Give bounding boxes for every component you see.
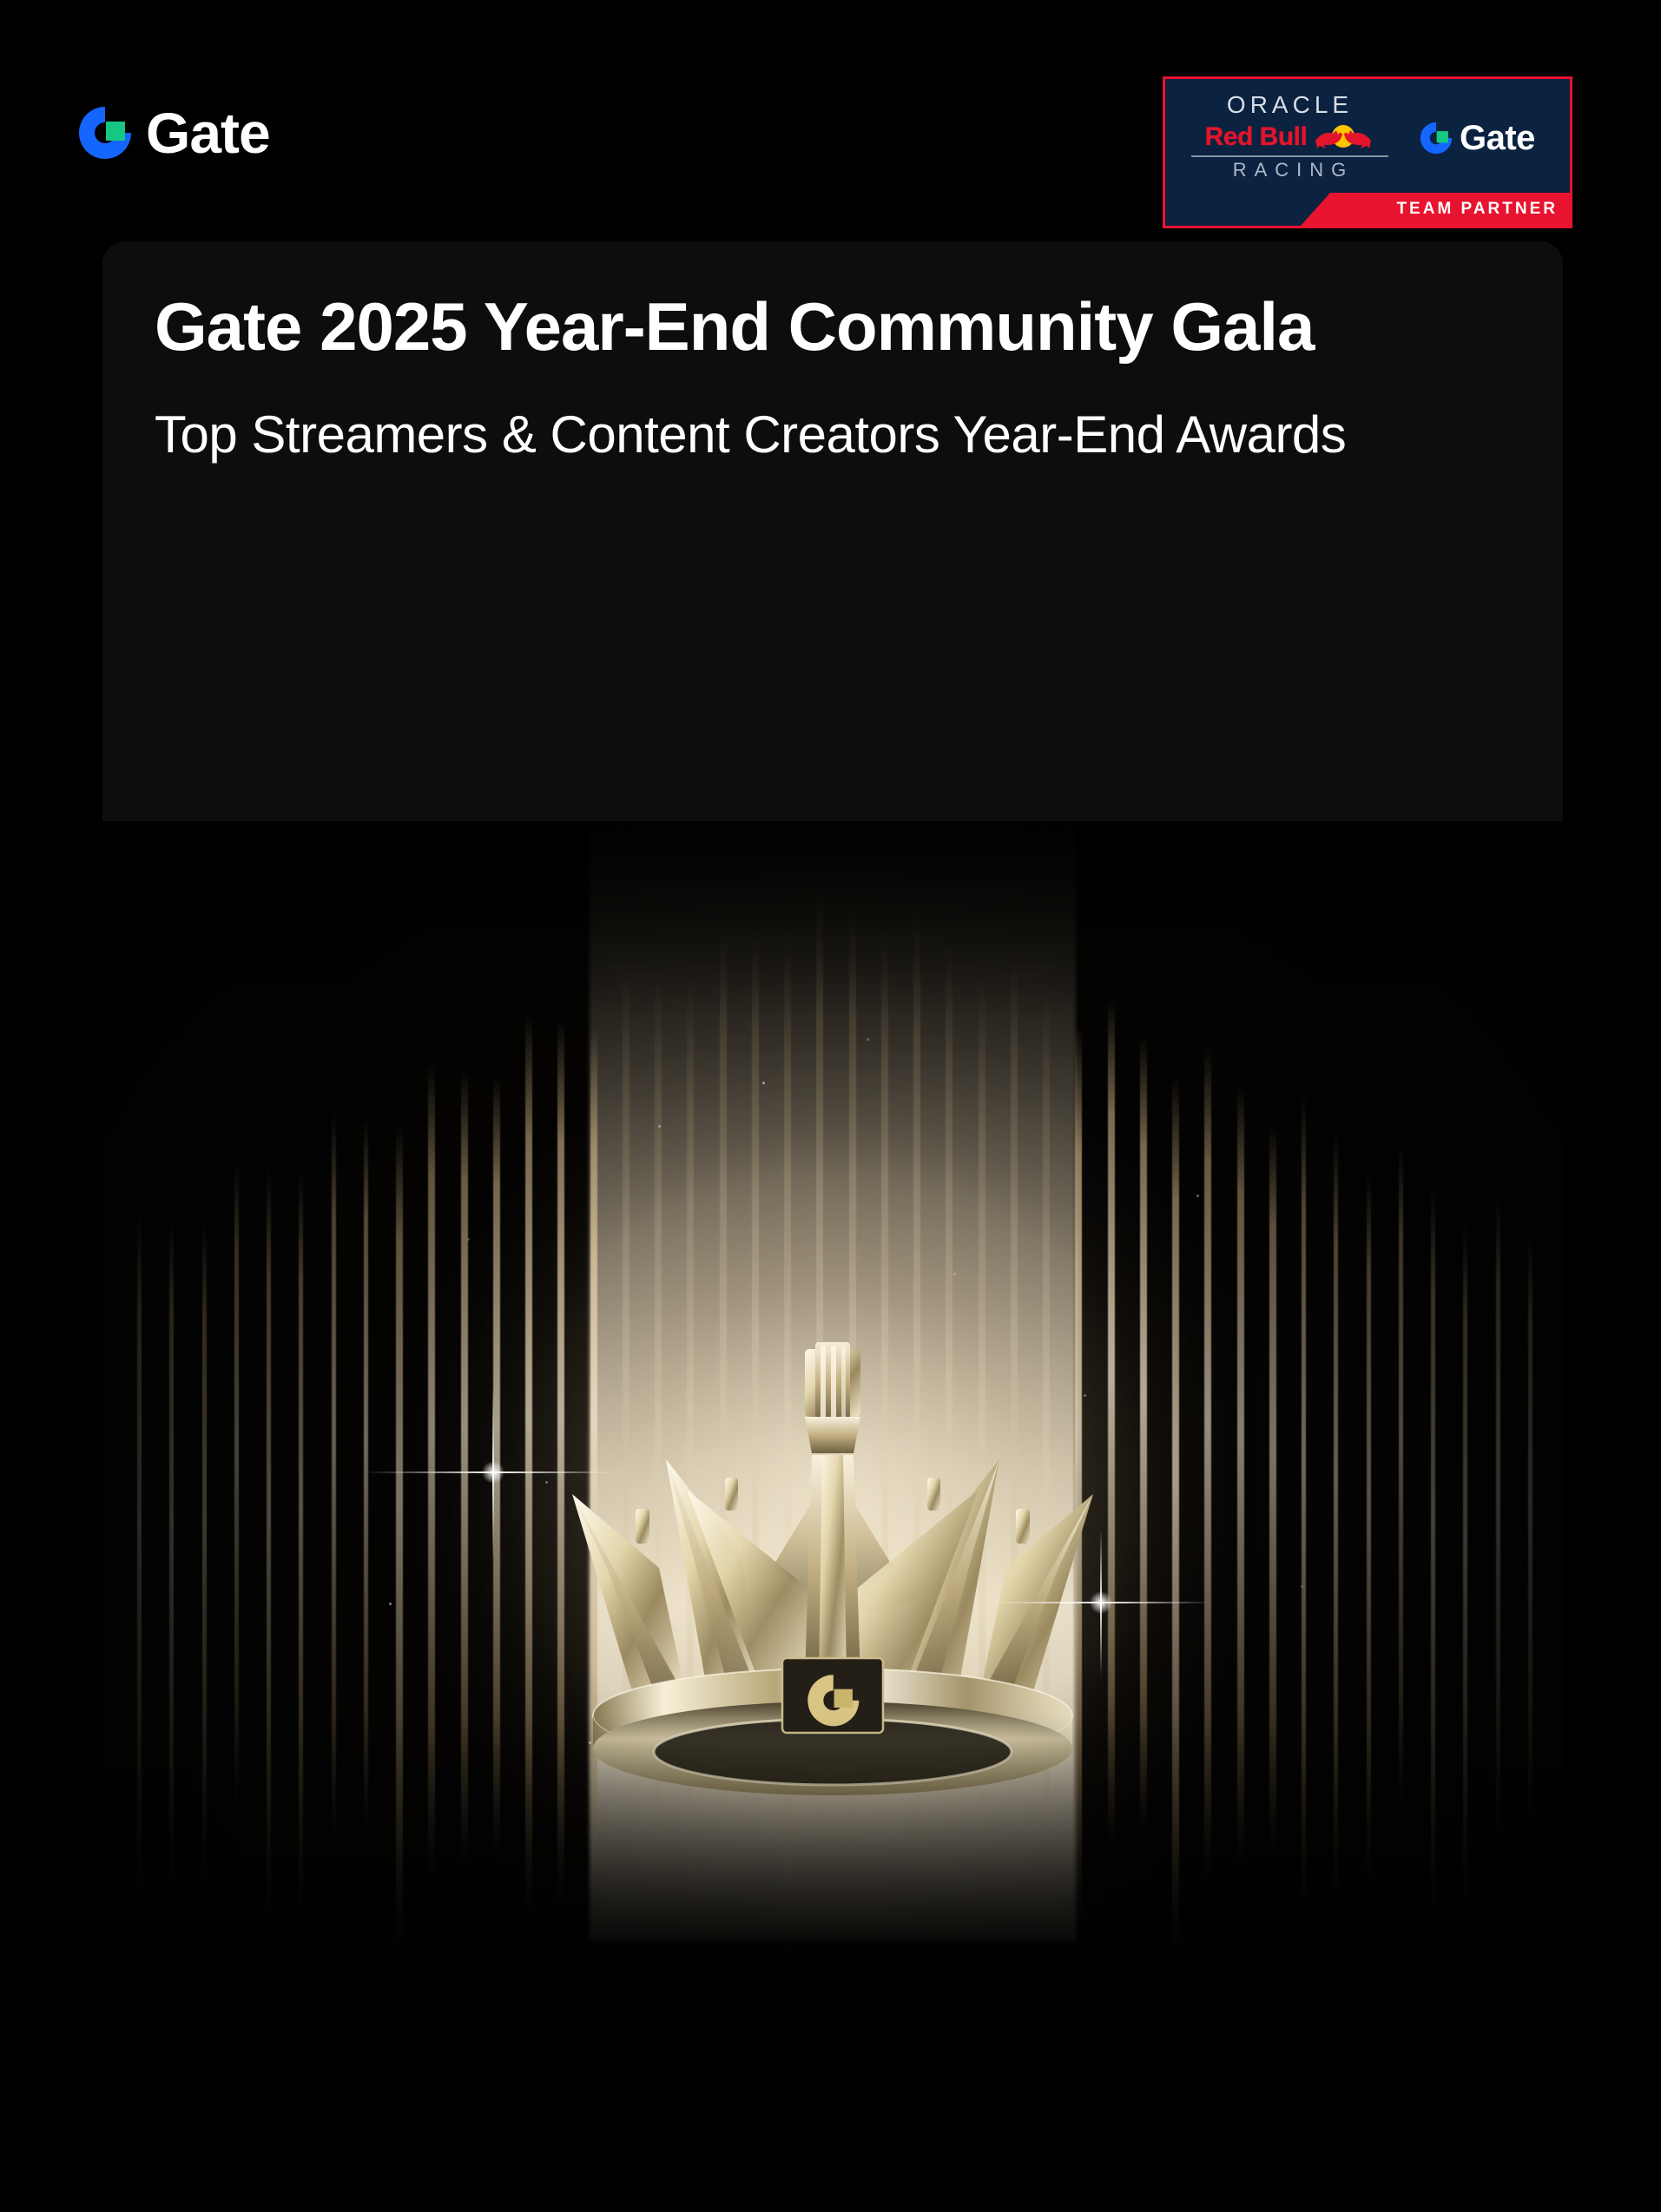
dust-mote [762, 1082, 765, 1084]
gate-brand-label: Gate [146, 104, 270, 161]
team-partner-label: TEAM PARTNER [1396, 200, 1558, 219]
dust-mote [545, 1481, 548, 1484]
red-bull-bull-icon [1312, 123, 1374, 151]
stage-light-bar [234, 1162, 239, 1811]
dust-mote [658, 1125, 661, 1128]
crown-trophy-artwork [102, 821, 1563, 2064]
hero-card: Gate 2025 Year-End Community Gala Top St… [102, 241, 1563, 2064]
stage-light-bar [461, 1069, 468, 1868]
hero-text-block: Gate 2025 Year-End Community Gala Top St… [102, 241, 1563, 466]
dust-mote [867, 1038, 869, 1041]
gate-logo-icon [1419, 121, 1453, 155]
stage-light-bar [1269, 1124, 1276, 1856]
stage-light-bar [1204, 1046, 1211, 1880]
stage-light-bar [1528, 1234, 1532, 1833]
badge-divider [1191, 155, 1388, 157]
gala-announcement-page: Gate ORACLE Red Bull [0, 0, 1661, 2212]
badge-gate-logo: Gate [1419, 121, 1535, 155]
stage-light-bar [493, 1075, 500, 1856]
dust-mote [1301, 1585, 1303, 1588]
stage-light-bar [1463, 1223, 1467, 1926]
team-partner-banner: TEAM PARTNER [1301, 193, 1570, 226]
stage-light-bar [1237, 1085, 1244, 1868]
stage-light-bar [137, 1212, 142, 1915]
golden-crown-trophy [555, 1307, 1111, 1846]
stage-light-bar [267, 1168, 271, 1938]
page-title: Gate 2025 Year-End Community Gala [155, 283, 1511, 371]
dust-mote [1196, 1195, 1199, 1197]
dust-mote [389, 1603, 392, 1605]
stage-light-bar [1431, 1184, 1435, 1938]
stage-light-bar [1302, 1096, 1306, 1915]
stage-light-bar [169, 1217, 174, 1903]
stage-light-bar [299, 1174, 303, 1926]
stage-light-bar [1367, 1174, 1371, 1891]
stage-light-bar [525, 1013, 532, 1915]
dust-mote [467, 1238, 470, 1241]
stage-light-bar [1496, 1195, 1500, 1846]
stage-light-bar [1140, 1036, 1147, 1833]
racing-label: RACING [1188, 161, 1392, 180]
gate-logo-icon [76, 104, 134, 161]
stage-light-bar [1334, 1135, 1338, 1903]
stage-light-bar [1172, 1075, 1179, 1960]
red-bull-team-partner-badge[interactable]: ORACLE Red Bull RACING [1163, 76, 1572, 228]
stage-light-bar [202, 1223, 207, 1891]
gate-brand-logo[interactable]: Gate [76, 104, 270, 161]
stage-light-bar [332, 1112, 336, 1846]
dust-mote [953, 1273, 956, 1275]
stage-light-bar [396, 1124, 403, 1960]
header-bar: Gate ORACLE Red Bull [0, 0, 1661, 243]
oracle-label: ORACLE [1188, 93, 1392, 117]
badge-gate-label: Gate [1460, 121, 1535, 155]
red-bull-label: Red Bull [1205, 124, 1308, 150]
stage-light-bar [1399, 1145, 1403, 1811]
stage-light-bar [428, 1063, 435, 1880]
page-subtitle: Top Streamers & Content Creators Year-En… [155, 404, 1511, 466]
oracle-red-bull-racing-lockup: ORACLE Red Bull RACING [1188, 93, 1392, 180]
stage-light-bar [364, 1118, 368, 1833]
